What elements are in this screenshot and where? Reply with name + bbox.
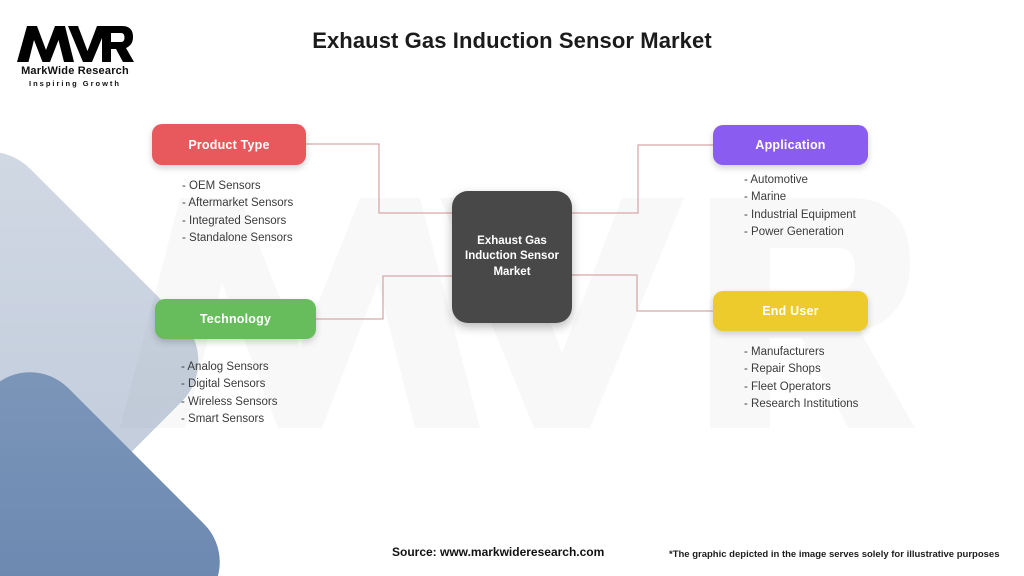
branch-node-end-user[interactable]: End User (713, 291, 868, 331)
list-item: - Digital Sensors (181, 376, 278, 393)
branch-node-product-type[interactable]: Product Type (152, 124, 306, 165)
list-item: - Aftermarket Sensors (182, 195, 293, 212)
branch-node-technology[interactable]: Technology (155, 299, 316, 339)
list-item: - Fleet Operators (744, 379, 858, 396)
list-item: - Industrial Equipment (744, 207, 856, 224)
branch-label-application: Application (755, 138, 825, 152)
source-text: Source: www.markwideresearch.com (392, 545, 604, 559)
center-node[interactable]: Exhaust Gas Induction Sensor Market (452, 191, 572, 323)
list-item: - Smart Sensors (181, 411, 278, 428)
list-item: - Analog Sensors (181, 359, 278, 376)
branch-items-application: - Automotive - Marine - Industrial Equip… (744, 172, 856, 242)
list-item: - Marine (744, 189, 856, 206)
list-item: - Standalone Sensors (182, 230, 293, 247)
connector-application (572, 145, 713, 213)
list-item: - Wireless Sensors (181, 394, 278, 411)
connector-technology (316, 276, 452, 319)
branch-items-technology: - Analog Sensors - Digital Sensors - Wir… (181, 359, 278, 429)
list-item: - Integrated Sensors (182, 213, 293, 230)
diagram-canvas: MarkWide Research Inspiring Growth Exhau… (0, 0, 1024, 576)
branch-label-technology: Technology (200, 312, 271, 326)
list-item: - OEM Sensors (182, 178, 293, 195)
connector-end-user (572, 275, 713, 311)
disclaimer-text: *The graphic depicted in the image serve… (669, 549, 1000, 560)
list-item: - Manufacturers (744, 344, 858, 361)
branch-items-end-user: - Manufacturers - Repair Shops - Fleet O… (744, 344, 858, 414)
branch-node-application[interactable]: Application (713, 125, 868, 165)
branch-label-product-type: Product Type (188, 138, 269, 152)
list-item: - Research Institutions (744, 396, 858, 413)
branch-items-product-type: - OEM Sensors - Aftermarket Sensors - In… (182, 178, 293, 248)
connector-product-type (306, 144, 452, 213)
center-node-label: Exhaust Gas Induction Sensor Market (452, 234, 572, 281)
list-item: - Automotive (744, 172, 856, 189)
list-item: - Repair Shops (744, 361, 858, 378)
list-item: - Power Generation (744, 224, 856, 241)
branch-label-end-user: End User (762, 304, 818, 318)
